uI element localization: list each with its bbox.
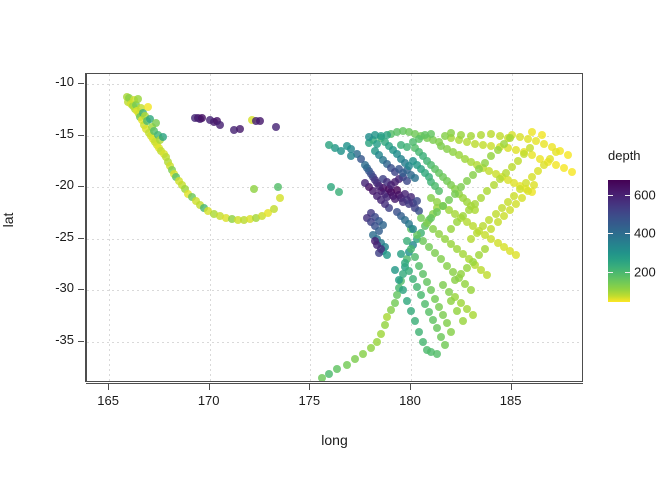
data-point	[371, 237, 379, 245]
x-axis-tick-label: 170	[184, 393, 234, 408]
data-point	[494, 146, 502, 154]
legend-tick-mark	[608, 233, 630, 234]
data-point	[423, 278, 431, 286]
data-point	[546, 155, 554, 163]
data-point	[417, 291, 425, 299]
data-point	[409, 225, 417, 233]
data-point	[236, 125, 244, 133]
data-point	[325, 370, 333, 378]
data-point	[152, 119, 160, 127]
data-point	[361, 179, 369, 187]
data-point	[467, 132, 475, 140]
data-point	[496, 132, 504, 140]
data-point	[276, 194, 284, 202]
data-point	[429, 316, 437, 324]
data-point	[530, 181, 538, 189]
data-point	[407, 307, 415, 315]
plot-panel	[86, 73, 583, 382]
data-point	[487, 152, 495, 160]
data-point	[250, 185, 258, 193]
data-point	[403, 297, 411, 305]
data-point	[381, 321, 389, 329]
y-axis-tick-label: -20	[24, 177, 74, 192]
x-axis-tick-label: 175	[284, 393, 334, 408]
data-point	[473, 229, 481, 237]
data-point	[447, 129, 455, 137]
data-point	[459, 317, 467, 325]
data-point	[512, 146, 520, 154]
data-point	[419, 270, 427, 278]
data-point	[391, 266, 399, 274]
data-point	[395, 276, 403, 284]
data-point	[365, 133, 373, 141]
data-point	[409, 275, 417, 283]
data-point	[427, 130, 435, 138]
data-point	[343, 361, 351, 369]
x-axis-tick	[209, 384, 210, 390]
data-point	[327, 183, 335, 191]
data-point	[405, 267, 413, 275]
data-point	[552, 148, 560, 156]
y-axis-tick	[78, 135, 84, 136]
data-point	[447, 225, 455, 233]
data-point	[522, 179, 530, 187]
data-point	[335, 188, 343, 196]
data-point	[524, 135, 532, 143]
data-point	[506, 206, 514, 214]
data-point	[481, 159, 489, 167]
data-point	[520, 150, 528, 158]
legend-colorbar	[608, 180, 630, 302]
data-point	[433, 350, 441, 358]
data-point	[399, 286, 407, 294]
legend-tick-mark	[608, 195, 630, 196]
data-point	[411, 174, 419, 182]
data-point	[413, 197, 421, 205]
data-point	[560, 164, 568, 172]
legend-tick-label: 400	[634, 226, 656, 241]
data-point	[538, 131, 546, 139]
data-point	[483, 187, 491, 195]
data-point	[411, 253, 419, 261]
data-point	[453, 307, 461, 315]
data-point	[453, 218, 461, 226]
data-point	[159, 133, 167, 141]
data-point	[518, 194, 526, 202]
data-point	[274, 183, 282, 191]
data-point	[435, 303, 443, 311]
y-axis-tick	[78, 186, 84, 187]
data-point	[526, 144, 534, 152]
data-point	[514, 157, 522, 165]
data-point	[516, 185, 524, 193]
data-point	[443, 319, 451, 327]
data-point	[447, 297, 455, 305]
data-point	[347, 152, 355, 160]
data-point	[383, 251, 391, 259]
data-point	[415, 262, 423, 270]
data-point	[403, 237, 411, 245]
data-point	[498, 204, 506, 212]
y-axis-tick-label: -30	[24, 280, 74, 295]
data-point	[469, 311, 477, 319]
legend-tick-mark	[608, 272, 630, 273]
data-point	[377, 330, 385, 338]
data-point	[447, 328, 455, 336]
y-axis-title: lat	[0, 190, 16, 250]
data-point	[433, 324, 441, 332]
data-point	[256, 117, 264, 125]
data-point	[483, 271, 491, 279]
y-axis-tick-label: -15	[24, 126, 74, 141]
y-axis-tick	[78, 238, 84, 239]
data-point	[477, 131, 485, 139]
data-point	[552, 161, 560, 169]
data-point	[568, 168, 576, 176]
y-axis-tick	[78, 341, 84, 342]
data-point	[528, 173, 536, 181]
data-point	[477, 194, 485, 202]
data-point	[367, 344, 375, 352]
data-point	[413, 283, 421, 291]
data-point	[391, 299, 399, 307]
data-point	[383, 313, 391, 321]
data-point	[270, 205, 278, 213]
data-point	[425, 308, 433, 316]
data-point	[272, 123, 280, 131]
data-point	[359, 350, 367, 358]
data-point	[467, 286, 475, 294]
data-point	[479, 141, 487, 149]
data-point	[451, 190, 459, 198]
legend-tick-label: 200	[634, 264, 656, 279]
data-point	[373, 338, 381, 346]
data-points-layer	[87, 74, 582, 381]
data-point	[469, 258, 477, 266]
x-axis-tick	[410, 384, 411, 390]
data-point	[431, 295, 439, 303]
data-point	[435, 187, 443, 195]
x-axis-tick	[511, 384, 512, 390]
data-point	[528, 128, 536, 136]
data-point	[216, 121, 224, 129]
x-axis-tick	[309, 384, 310, 390]
data-point	[540, 140, 548, 148]
y-axis-tick-label: -10	[24, 74, 74, 89]
y-axis-tick-label: -35	[24, 332, 74, 347]
data-point	[439, 311, 447, 319]
data-point	[198, 114, 206, 122]
data-point	[512, 251, 520, 259]
data-point	[419, 338, 427, 346]
scatter-plot-figure: 165170175180185-10-15-20-25-30-35 long l…	[0, 0, 672, 480]
data-point	[333, 365, 341, 373]
data-point	[144, 103, 152, 111]
y-axis-line	[85, 73, 86, 382]
data-point	[510, 192, 518, 200]
data-point	[134, 95, 142, 103]
data-point	[427, 286, 435, 294]
data-point	[500, 140, 508, 148]
data-point	[415, 328, 423, 336]
data-point	[564, 151, 572, 159]
data-point	[471, 140, 479, 148]
data-point	[485, 216, 493, 224]
data-point	[506, 134, 514, 142]
y-axis-tick	[78, 289, 84, 290]
x-axis-line	[86, 383, 583, 384]
data-point	[411, 317, 419, 325]
data-point	[494, 218, 502, 226]
y-axis-tick	[78, 83, 84, 84]
data-point	[441, 341, 449, 349]
data-point	[502, 169, 510, 177]
data-point	[487, 225, 495, 233]
x-axis-tick-label: 185	[486, 393, 536, 408]
data-point	[351, 355, 359, 363]
data-point	[479, 222, 487, 230]
data-point	[421, 300, 429, 308]
x-axis-title: long	[86, 432, 583, 448]
legend-tick-label: 600	[634, 188, 656, 203]
data-point	[407, 245, 415, 253]
data-point	[437, 333, 445, 341]
legend-title: depth	[608, 148, 641, 163]
data-point	[401, 259, 409, 267]
data-point	[528, 151, 536, 159]
x-axis-tick-label: 180	[385, 393, 435, 408]
data-point	[496, 175, 504, 183]
data-point	[487, 130, 495, 138]
x-axis-tick-label: 165	[83, 393, 133, 408]
data-point	[490, 181, 498, 189]
data-point	[481, 245, 489, 253]
data-point	[516, 133, 524, 141]
data-point	[325, 141, 333, 149]
data-point	[387, 306, 395, 314]
data-point	[492, 210, 500, 218]
x-axis-tick	[108, 384, 109, 390]
y-axis-tick-label: -25	[24, 229, 74, 244]
data-point	[500, 212, 508, 220]
